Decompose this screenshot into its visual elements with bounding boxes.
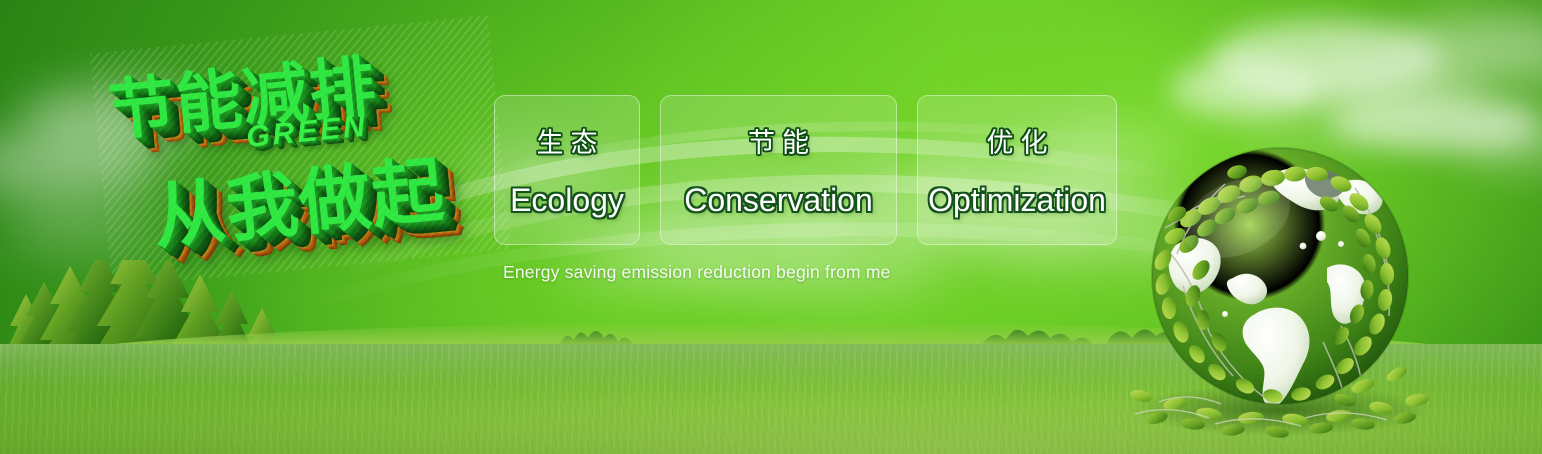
- card-heading-en: Ecology: [510, 182, 624, 219]
- card-heading-cn: 生态: [530, 121, 605, 160]
- feature-card-ecology[interactable]: 生态 Ecology: [494, 95, 640, 245]
- feature-card-optimization[interactable]: 优化 Optimization: [917, 95, 1117, 245]
- eco-banner: 节能减排 GREEN 从我做起 生态 Ecology 节能 Conservati…: [0, 0, 1542, 454]
- headline-3d: 节能减排 GREEN 从我做起: [90, 15, 511, 287]
- card-heading-cn: 节能: [741, 121, 816, 160]
- feature-card-conservation[interactable]: 节能 Conservation: [660, 95, 897, 245]
- headline-bottom-line: 从我做起: [148, 131, 449, 264]
- banner-tagline: Energy saving emission reduction begin f…: [503, 262, 891, 283]
- card-heading-cn: 优化: [980, 121, 1055, 160]
- card-heading-en: Conservation: [684, 182, 873, 219]
- card-heading-en: Optimization: [928, 182, 1106, 219]
- leafy-green-earth-globe: [1105, 118, 1455, 440]
- feature-cards: 生态 Ecology 节能 Conservation 优化 Optimizati…: [494, 95, 1117, 245]
